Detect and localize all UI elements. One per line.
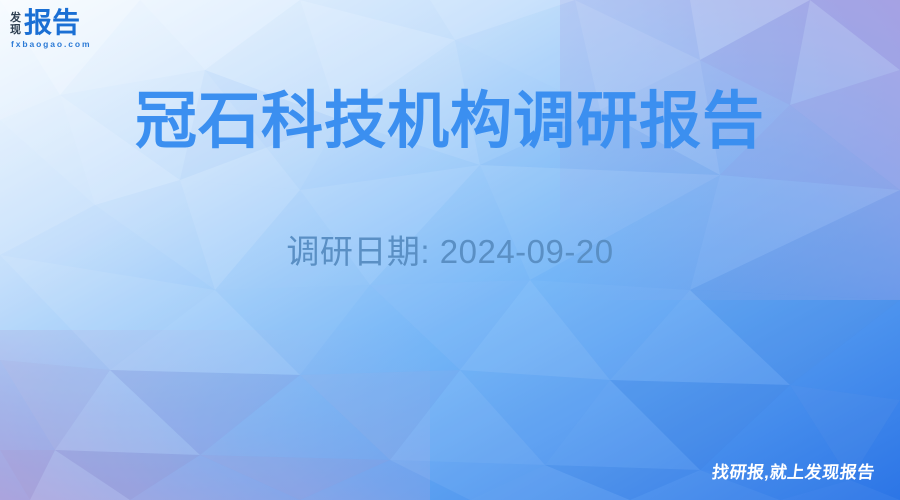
logo-prefix-stack: 发 现 xyxy=(10,12,21,37)
logo-mark: 发 现 报告 xyxy=(10,7,130,37)
logo-domain: fxbaogao.com xyxy=(10,39,130,49)
page-title: 冠石科技机构调研报告 xyxy=(0,84,900,160)
logo-prefix-char-2: 现 xyxy=(10,24,21,36)
survey-date-subtitle: 调研日期: 2024-09-20 xyxy=(0,230,900,274)
logo-prefix-char-1: 发 xyxy=(10,12,21,24)
title-block: 冠石科技机构调研报告 xyxy=(0,84,900,160)
fxbaogao-logo[interactable]: 发 现 报告 fxbaogao.com xyxy=(10,7,130,51)
brand-tagline: 找研报,就上发现报告 xyxy=(711,463,876,483)
report-cover: 发 现 报告 fxbaogao.com 冠石科技机构调研报告 调研日期: 202… xyxy=(0,0,900,500)
logo-wordmark: 报告 xyxy=(24,9,80,37)
